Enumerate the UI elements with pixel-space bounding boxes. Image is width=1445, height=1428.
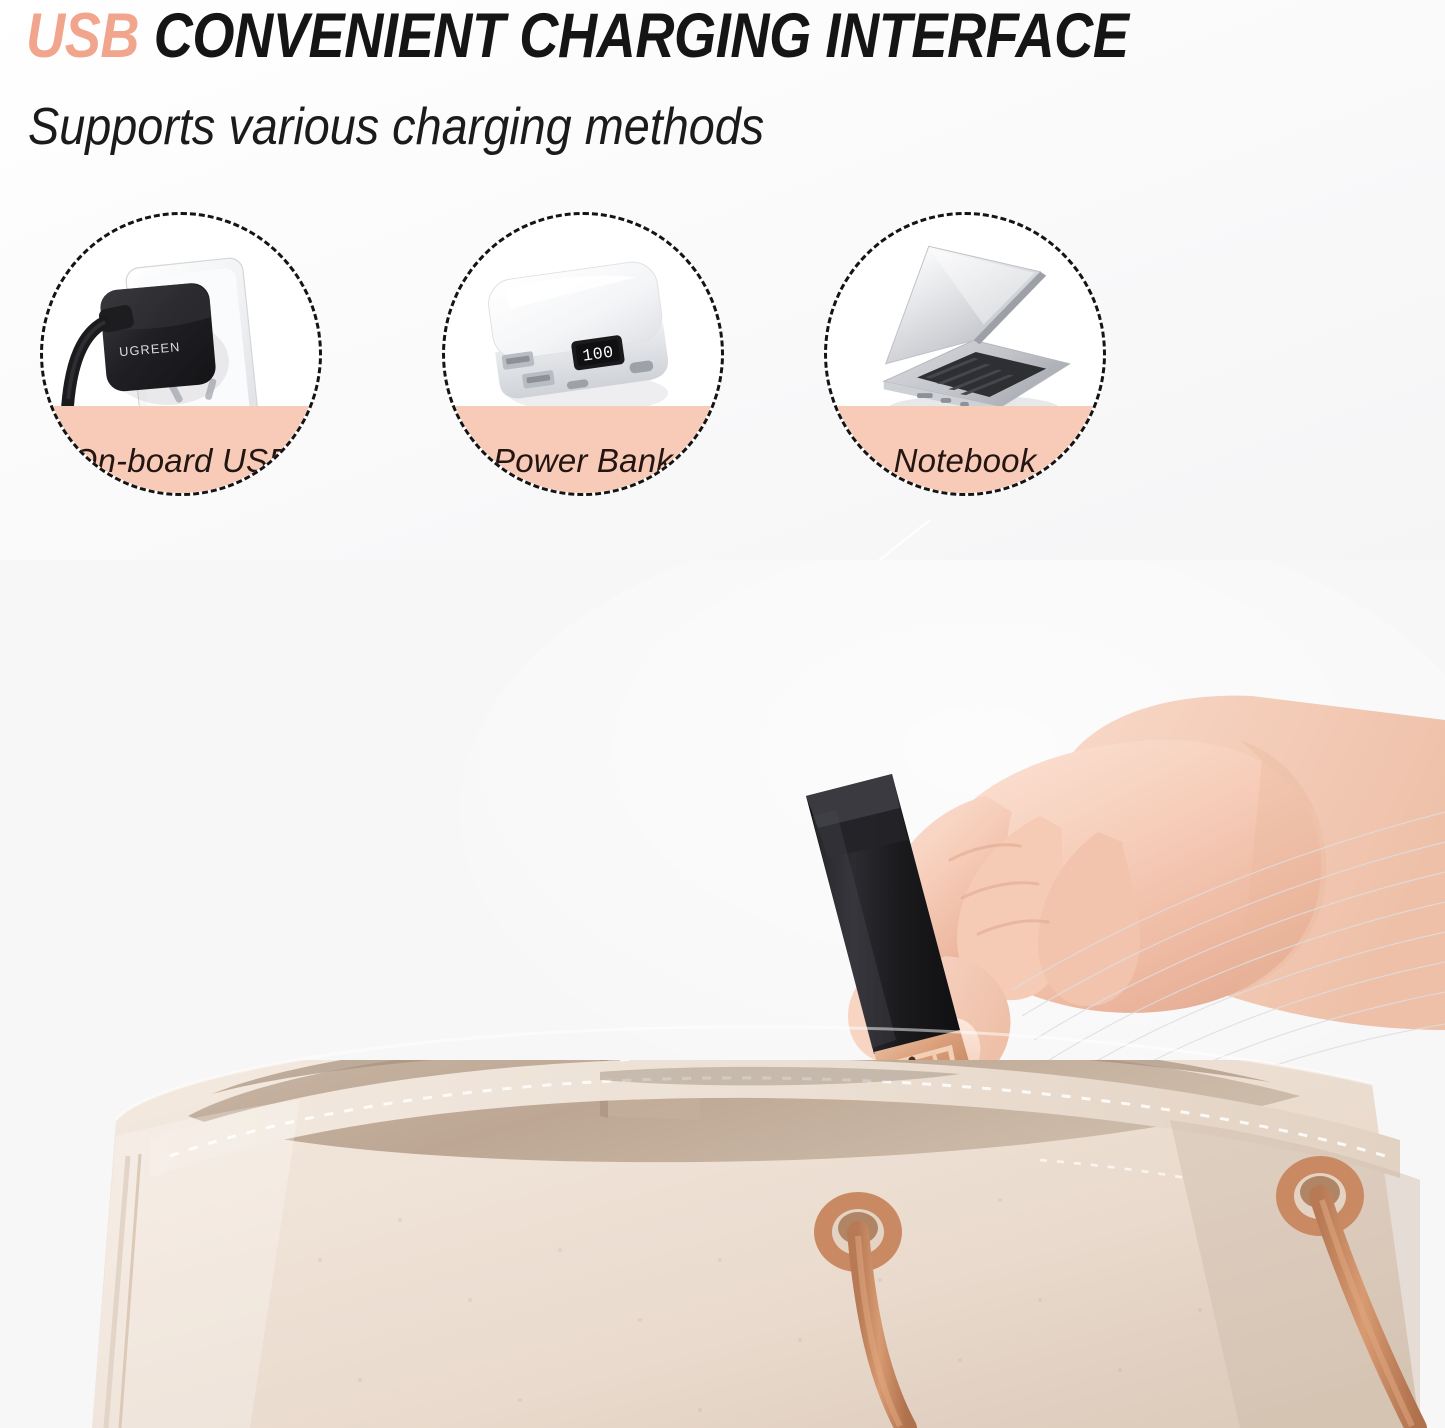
leather-tote-bag (92, 1027, 1420, 1428)
product-feature-page: USB CONVENIENT CHARGING INTERFACE Suppor… (0, 0, 1445, 1428)
lifestyle-photo (0, 560, 1445, 1428)
charging-method-label: Notebook (827, 442, 1103, 480)
charging-method-label: Power Bank (445, 442, 721, 480)
charging-method-onboard-usb: UGREEN On-board USB (40, 212, 322, 496)
charging-method-label: On-board USB (43, 442, 319, 480)
charging-method-notebook: Notebook (824, 212, 1106, 496)
charging-method-power-bank: 100 Power Bank (442, 212, 724, 496)
charging-methods-list: UGREEN On-board USB (0, 0, 1445, 540)
